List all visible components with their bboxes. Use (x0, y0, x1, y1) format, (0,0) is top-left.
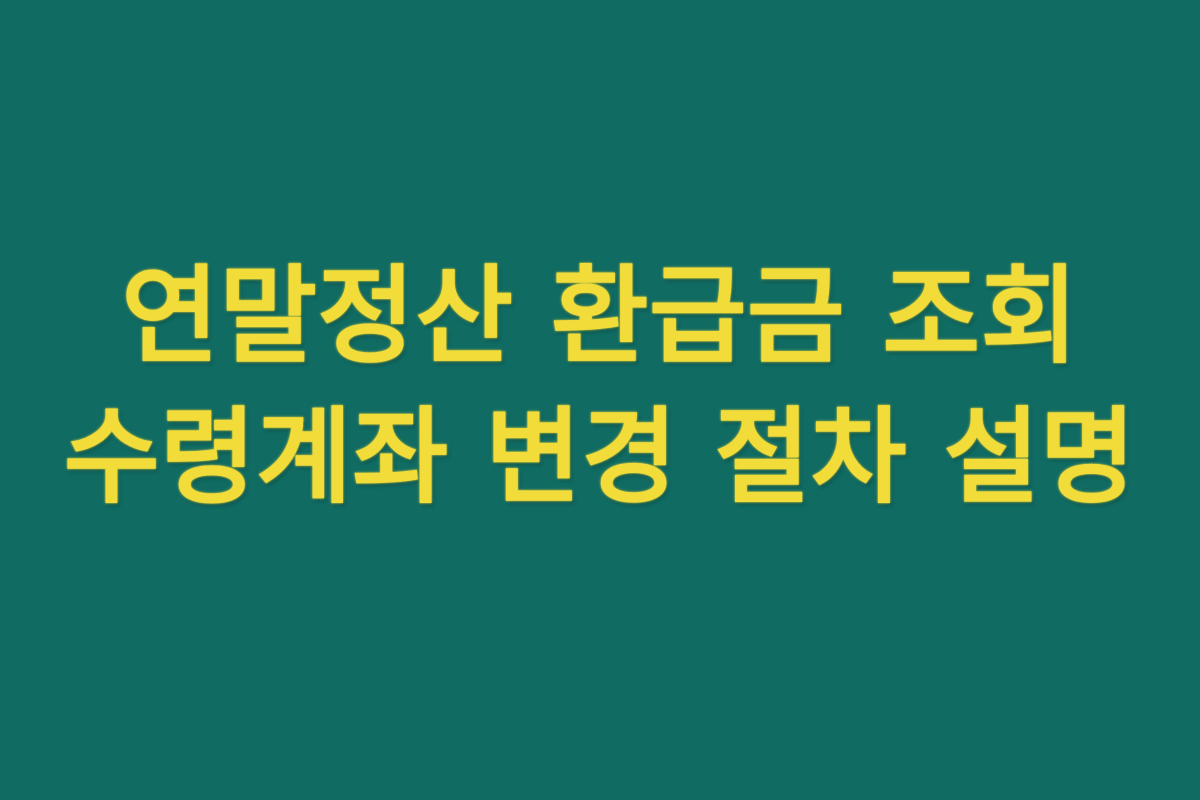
headline-block: 연말정산 환급금 조회 수령계좌 변경 절차 설명 (0, 246, 1200, 527)
headline-line-1: 연말정산 환급금 조회 (0, 246, 1200, 388)
banner-canvas: 연말정산 환급금 조회 수령계좌 변경 절차 설명 (0, 0, 1200, 800)
headline-line-2: 수령계좌 변경 절차 설명 (0, 388, 1200, 527)
